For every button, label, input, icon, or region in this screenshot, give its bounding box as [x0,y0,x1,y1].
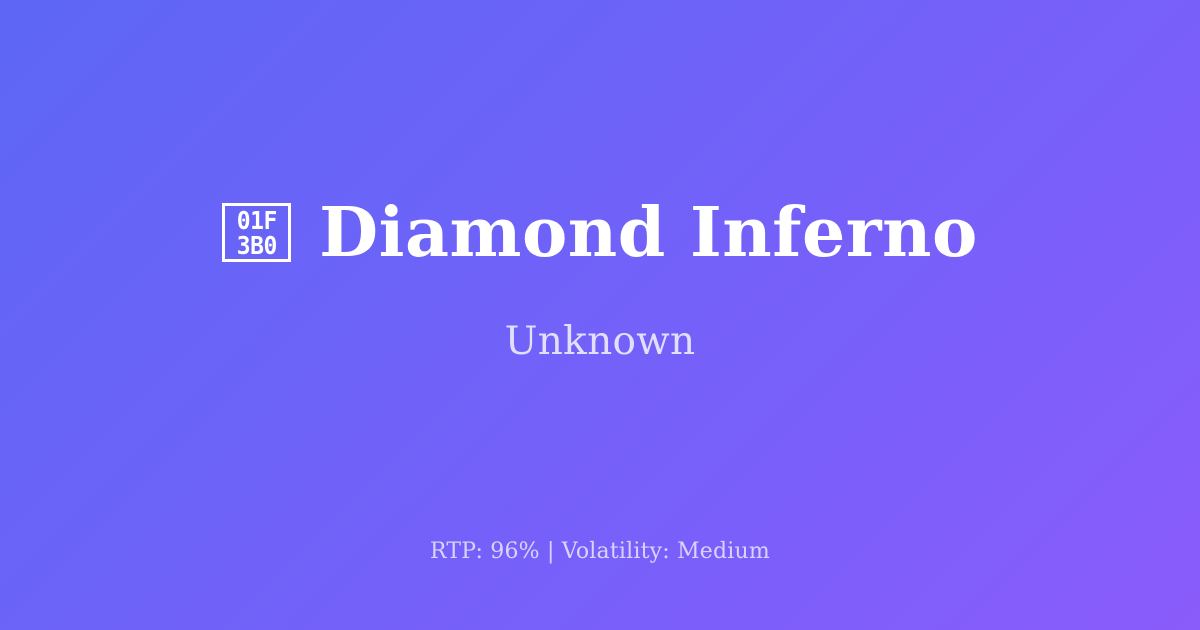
title-row: 01F 3B0 Diamond Inferno [222,199,978,267]
codepoint-top: 01F [237,208,277,233]
game-share-card: 01F 3B0 Diamond Inferno Unknown RTP: 96%… [0,0,1200,630]
game-title: Diamond Inferno [319,199,978,267]
hero-block: 01F 3B0 Diamond Inferno Unknown [222,199,978,364]
footer: RTP: 96% | Volatility: Medium [0,539,1200,564]
slot-machine-emoji-icon: 01F 3B0 [222,203,291,262]
codepoint-bottom: 3B0 [237,233,277,258]
game-stats-line: RTP: 96% | Volatility: Medium [430,539,770,564]
game-provider-subtitle: Unknown [505,319,696,364]
